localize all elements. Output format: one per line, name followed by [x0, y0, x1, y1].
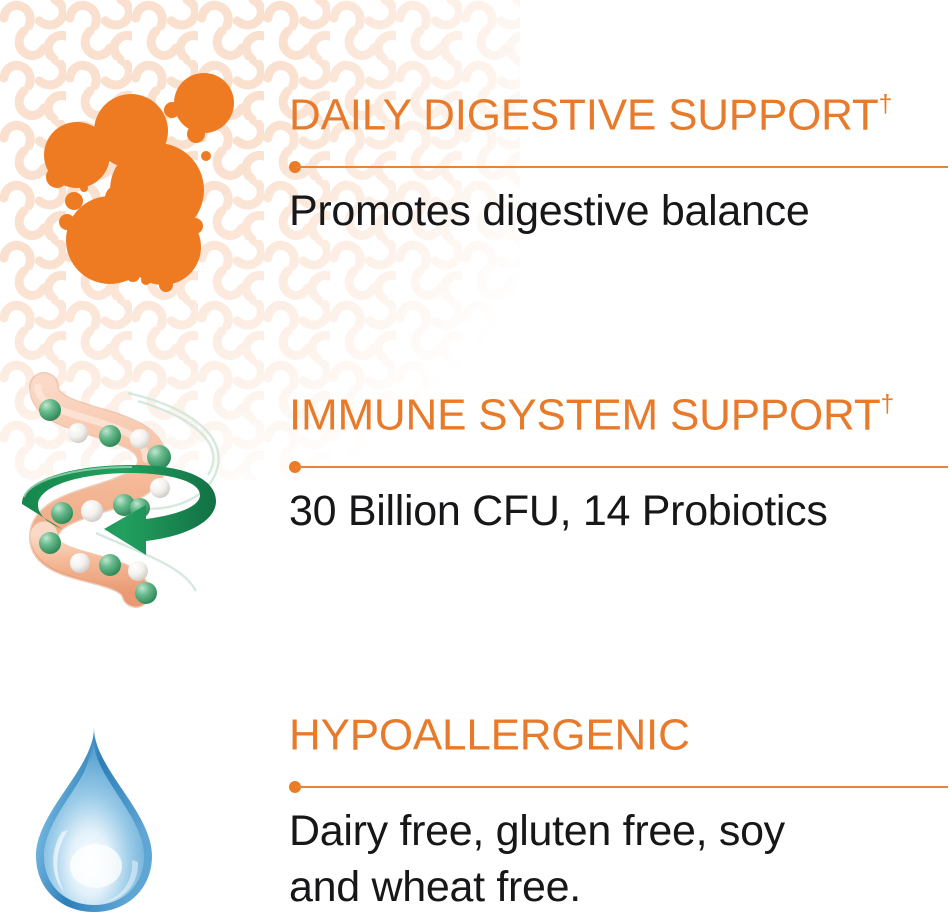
feature-daily-digestive-support: DAILY DIGESTIVE SUPPORT† Promotes digest… [289, 92, 948, 240]
feature-description: 30 Billion CFU, 14 Probiotics [289, 484, 948, 539]
dagger-superscript: † [879, 91, 893, 118]
feature-description: Promotes digestive balance [289, 184, 948, 239]
feature-title-text: HYPOALLERGENIC [289, 711, 690, 760]
divider-line [295, 786, 948, 788]
divider-line [295, 166, 948, 168]
divider [289, 460, 948, 474]
microbe-cluster-icon [0, 60, 285, 300]
feature-hypoallergenic: HYPOALLERGENIC Dairy free, gluten free, … [289, 712, 948, 915]
benefits-panel: DAILY DIGESTIVE SUPPORT† Promotes digest… [0, 0, 952, 918]
feature-title: HYPOALLERGENIC [289, 712, 948, 758]
feature-title: DAILY DIGESTIVE SUPPORT† [289, 92, 948, 138]
divider [289, 160, 948, 174]
divider-line [295, 466, 948, 468]
gut-probiotic-icon [0, 365, 285, 615]
feature-description: Dairy free, gluten free, soy and wheat f… [289, 804, 809, 914]
feature-title-text: DAILY DIGESTIVE SUPPORT [289, 91, 879, 140]
dagger-superscript: † [881, 391, 895, 418]
feature-title-text: IMMUNE SYSTEM SUPPORT [289, 391, 881, 440]
feature-title: IMMUNE SYSTEM SUPPORT† [289, 392, 948, 438]
divider [289, 780, 948, 794]
feature-immune-system-support: IMMUNE SYSTEM SUPPORT† 30 Billion CFU, 1… [289, 392, 948, 540]
water-droplet-icon [0, 720, 285, 918]
